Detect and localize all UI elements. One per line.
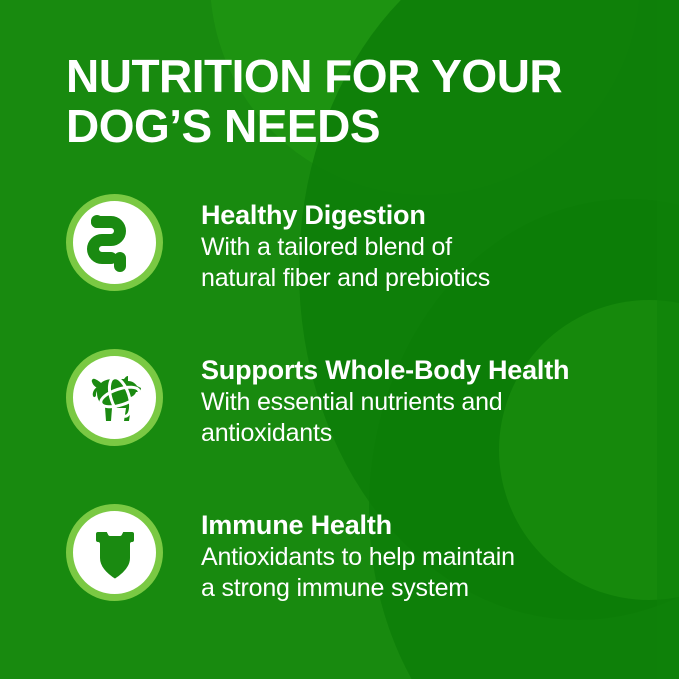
- feature-item-healthy-digestion: Healthy Digestion With a tailored blend …: [0, 186, 679, 341]
- feature-text: Healthy Digestion With a tailored blend …: [201, 186, 490, 294]
- feature-icon-badge: [66, 349, 163, 446]
- feature-item-whole-body-health: Supports Whole-Body Health With essentia…: [0, 341, 679, 496]
- shield-immune-icon: [86, 520, 144, 586]
- feature-title: Healthy Digestion: [201, 200, 490, 231]
- feature-title: Immune Health: [201, 510, 515, 541]
- page-title-line-1: NUTRITION FOR YOUR: [66, 52, 656, 102]
- feature-description: Antioxidants to help maintain a strong i…: [201, 542, 515, 604]
- feature-icon-badge: [66, 504, 163, 601]
- feature-text: Immune Health Antioxidants to help maint…: [201, 496, 515, 604]
- feature-icon-badge: [66, 194, 163, 291]
- intestine-digestion-icon: [84, 210, 146, 276]
- page-title: NUTRITION FOR YOUR DOG’S NEEDS: [66, 52, 656, 151]
- page-title-line-2: DOG’S NEEDS: [66, 102, 656, 152]
- feature-description: With a tailored blend of natural fiber a…: [201, 232, 490, 294]
- feature-item-immune-health: Immune Health Antioxidants to help maint…: [0, 496, 679, 651]
- nutrition-benefits-poster: NUTRITION FOR YOUR DOG’S NEEDS Healthy D…: [0, 0, 679, 679]
- feature-list: Healthy Digestion With a tailored blend …: [0, 186, 679, 651]
- feature-description: With essential nutrients and antioxidant…: [201, 387, 569, 449]
- feature-title: Supports Whole-Body Health: [201, 355, 569, 386]
- feature-text: Supports Whole-Body Health With essentia…: [201, 341, 569, 449]
- dog-with-orbit-icon: [82, 367, 148, 429]
